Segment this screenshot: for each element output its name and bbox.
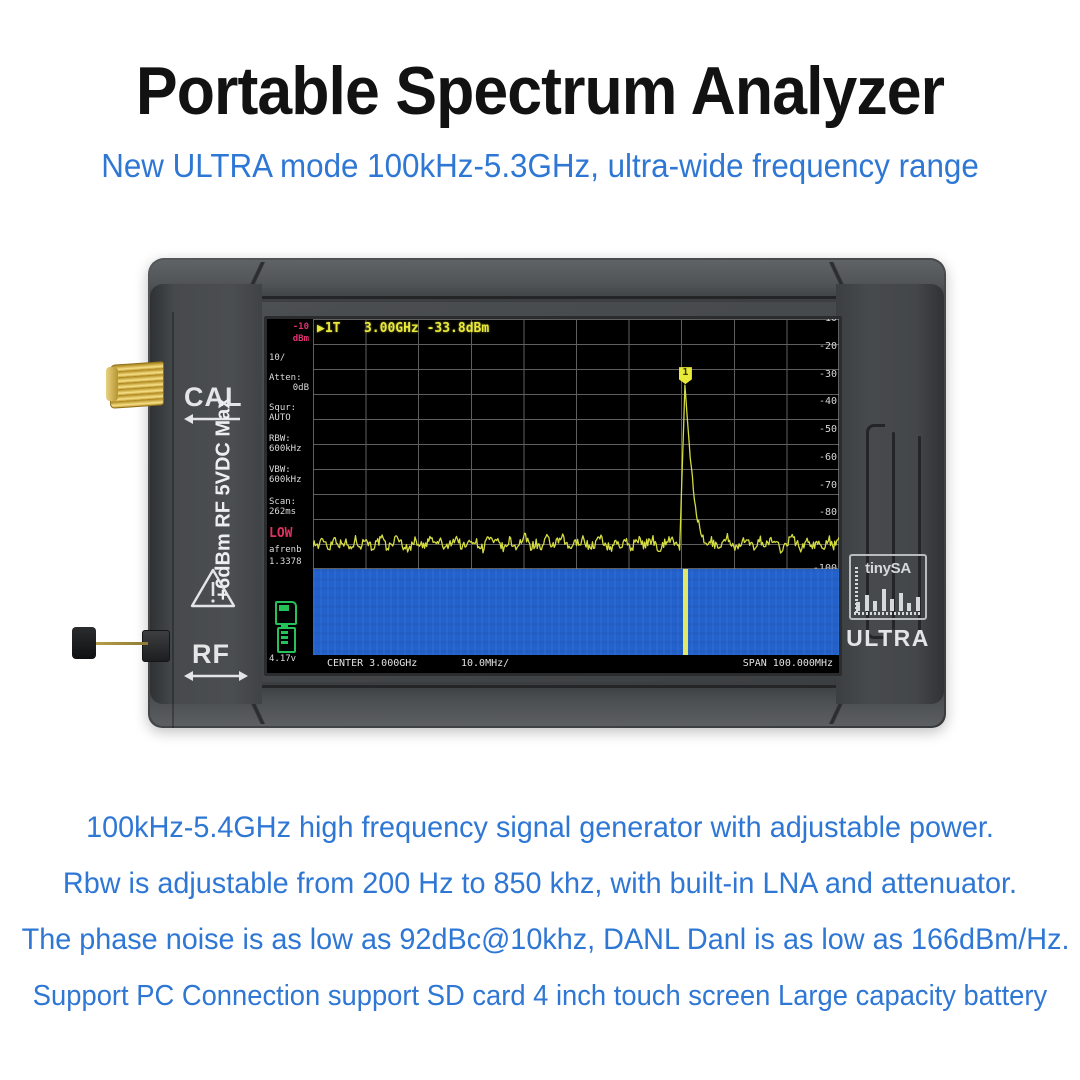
warning-triangle-icon: [190, 567, 236, 609]
vbw-label: VBW:: [269, 465, 313, 475]
mode-badge: LOW: [269, 529, 313, 539]
status-span: SPAN 100.000MHz: [743, 658, 833, 669]
atten-label: Atten:: [269, 373, 313, 383]
rbw-value: 600kHz: [269, 444, 313, 454]
feature-line-2: Rbw is adjustable from 200 Hz to 850 khz…: [22, 856, 1059, 912]
rbw-label: RBW:: [269, 434, 313, 444]
logo-baseline: [854, 612, 922, 615]
sd-card-icon: [275, 601, 297, 625]
scale-per-div: 10/: [269, 353, 313, 363]
db-tick--20: -20: [797, 341, 837, 352]
logo-spectrum-icon: tinySA: [849, 554, 927, 620]
db-tick--30: -30: [797, 369, 837, 380]
device-right-panel: tinySA ULTRA: [836, 284, 944, 704]
logo-brand-text: tinySA: [851, 560, 925, 577]
scan-label: Scan:: [269, 497, 313, 507]
db-axis-labels: -10-20-30-40-50-60-70-80-100: [795, 319, 837, 569]
atten-value: 0dB: [269, 383, 309, 393]
header: Portable Spectrum Analyzer New ULTRA mod…: [0, 0, 1080, 205]
lcd-info-column: -10 dBm 10/ Atten: 0dB Squr: AUTO RBW: 6…: [267, 319, 313, 673]
feature-list: 100kHz-5.4GHz high frequency signal gene…: [0, 800, 1080, 1024]
rf-port-label: RF: [192, 639, 230, 670]
device-illustration: CAL +6dBm RF 5VDC Max RF tin: [148, 258, 946, 728]
battery-icon: [277, 627, 296, 653]
page-subtitle: New ULTRA mode 100kHz-5.3GHz, ultra-wide…: [27, 147, 1053, 185]
db-tick--10: -10: [797, 319, 837, 324]
left-panel-edge: [172, 312, 174, 728]
vbw-value: 600kHz: [269, 475, 313, 485]
rf-arrow-icon: [184, 669, 248, 683]
cal-sma-connector: [110, 361, 164, 409]
waterfall-peak-line: [683, 569, 688, 655]
spectrum-graph[interactable]: ▶1T 3.00GHz -33.8dBm 1 -10-20-30-40-50-6…: [313, 319, 839, 569]
sd-card-icon-notch: [279, 605, 289, 611]
db-tick--40: -40: [797, 396, 837, 407]
page-title: Portable Spectrum Analyzer: [43, 52, 1037, 130]
cal-sma-cap: [106, 367, 118, 401]
status-center-freq: CENTER 3.000GHz: [327, 658, 417, 669]
screen-bezel: -10 dBm 10/ Atten: 0dB Squr: AUTO RBW: 6…: [264, 316, 842, 676]
brand-logo: tinySA ULTRA: [842, 554, 934, 652]
db-tick--70: -70: [797, 480, 837, 491]
scan-value: 262ms: [269, 507, 313, 517]
feature-line-3: The phase noise is as low as 92dBc@10khz…: [22, 912, 1059, 968]
status-per-div: 10.0MHz/: [461, 658, 509, 669]
rf-connector-pin: [92, 642, 148, 645]
logo-bars: [856, 587, 920, 611]
rf-connector-cap: [72, 627, 96, 659]
battery-voltage: 4.17v: [269, 654, 313, 664]
ref-level-value: -10: [269, 322, 309, 332]
waterfall-texture: [313, 569, 839, 655]
status-bar: CENTER 3.000GHz 10.0MHz/ SPAN 100.000MHz: [313, 655, 839, 673]
db-tick--50: -50: [797, 424, 837, 435]
db-tick--80: -80: [797, 507, 837, 518]
grip-line-1-curve-top: [866, 424, 885, 447]
spectrum-trace: [313, 319, 839, 569]
squr-label: Squr:: [269, 403, 313, 413]
db-tick--60: -60: [797, 452, 837, 463]
afrenb-value: 1.3378: [269, 557, 313, 567]
feature-line-1: 100kHz-5.4GHz high frequency signal gene…: [22, 800, 1059, 856]
ref-level-unit: dBm: [269, 334, 309, 344]
marker-readout: ▶1T 3.00GHz -33.8dBm: [317, 321, 489, 336]
squr-value: AUTO: [269, 413, 313, 423]
afrenb-label: afrenb: [269, 545, 313, 555]
rf-connector-body: [142, 630, 170, 662]
feature-line-4: Support PC Connection support SD card 4 …: [22, 968, 1059, 1024]
lcd-screen[interactable]: -10 dBm 10/ Atten: 0dB Squr: AUTO RBW: 6…: [267, 319, 839, 673]
logo-model-text: ULTRA: [842, 625, 934, 652]
waterfall-display: [313, 569, 839, 655]
battery-icon-fill: [281, 631, 288, 645]
